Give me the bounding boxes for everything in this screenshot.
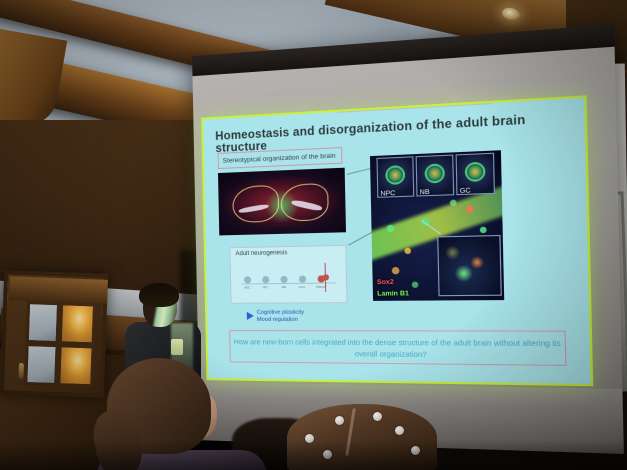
inset-gc: GC [456, 153, 495, 195]
neuron-dendrite [325, 263, 326, 274]
cell-dot [480, 227, 487, 234]
photo-scene: Presentation view Homeostasis and disorg… [0, 0, 627, 470]
magnified-cell [470, 256, 484, 269]
inset-nb: NB [416, 155, 455, 197]
cell-dot [404, 248, 411, 254]
research-question-text: How are new-born cells integrated into t… [230, 331, 565, 361]
magnified-cell [455, 265, 473, 282]
bullet-mood-regulation: Mood regulation [257, 317, 304, 324]
inset-label-nb: NB [420, 189, 430, 197]
lineage-cell-icon [298, 276, 305, 283]
hair-clip-icon [373, 412, 382, 421]
lineage-label-3: Imm. [296, 285, 308, 289]
cell-dot [392, 267, 400, 275]
cabinet-handle [18, 363, 24, 379]
npc-cell-icon [385, 165, 405, 185]
channel-label-laminb1: Lamin B1 [377, 290, 409, 298]
magnified-cell [445, 246, 460, 260]
cabinet-pane-1 [26, 301, 60, 344]
lineage-label-2: NB [278, 285, 290, 289]
inset-npc: NPC [376, 156, 414, 198]
cabinet-pane-4-lit [57, 344, 94, 387]
foreground-shadow [0, 440, 627, 470]
lineage-cell-icon [243, 276, 250, 283]
brain-section-image [218, 168, 346, 236]
projected-slide: Presentation view Homeostasis and disorg… [203, 98, 591, 384]
slide-topbar: Presentation view [337, 98, 491, 113]
cabinet-pane-2-lit [59, 302, 96, 345]
lineage-cell-icon [262, 276, 269, 283]
adult-neurogenesis-label: Adult neurogenesis [230, 246, 345, 258]
stereotypical-organization-label: Stereotypical organization of the brain [219, 148, 342, 169]
magnified-inset [437, 235, 502, 296]
lineage-label-1: IPC [259, 285, 271, 289]
wooden-cabinet [0, 270, 108, 398]
outcomes-bullets: Cognitive plasticity Mood regulation [247, 310, 305, 324]
mature-neuron-icon [314, 263, 338, 292]
lineage-label-0: NSC [241, 285, 253, 289]
lineage-cell-icon [280, 276, 287, 283]
cabinet-pane-3 [24, 343, 58, 386]
presenter-hair [139, 283, 179, 307]
microscopy-panel: NPC NB GC Sox2 [370, 150, 504, 301]
presenter-badge [171, 339, 183, 355]
slide-topbar-text: Presentation view [337, 98, 491, 113]
slide-title: Homeostasis and disorganization of the a… [215, 112, 573, 155]
bullet-cognitive-plasticity: Cognitive plasticity [257, 310, 304, 317]
cabinet-top [9, 276, 108, 303]
inset-label-gc: GC [460, 187, 471, 195]
inset-label-npc: NPC [380, 190, 395, 198]
cell-dot [412, 281, 419, 287]
nb-cell-icon [425, 164, 445, 184]
adult-neurogenesis-box: Adult neurogenesis NSC IPC NB [229, 245, 347, 304]
gc-cell-icon [465, 162, 486, 182]
cell-lineage-diagram: NSC IPC NB Imm. [239, 263, 340, 299]
hair-clip-icon [335, 416, 344, 425]
arrow-right-icon [247, 312, 254, 320]
neuron-axon [325, 280, 326, 291]
projection-screen: Presentation view Homeostasis and disorg… [192, 24, 624, 454]
hair-clip-icon [395, 426, 404, 435]
research-question-box: How are new-born cells integrated into t… [229, 330, 566, 366]
cell-type-insets: NPC NB GC [376, 153, 495, 198]
channel-label-sox2: Sox2 [377, 279, 394, 287]
